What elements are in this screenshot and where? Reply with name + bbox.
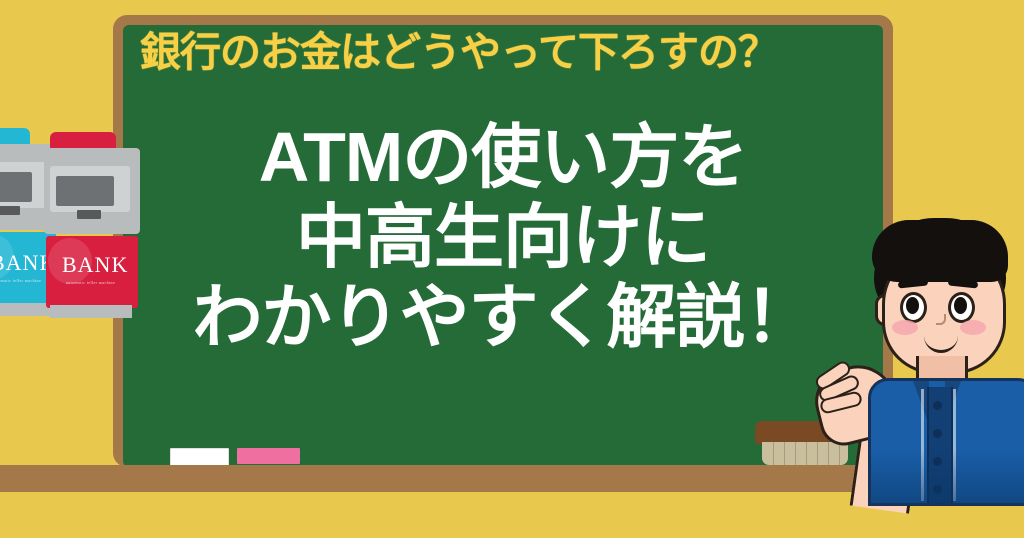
character-shirt-button [933, 429, 942, 438]
title-line-1: ATMの使い方を [113, 118, 893, 198]
character-shirt [868, 378, 1024, 506]
page-title: ATMの使い方を 中高生向けに わかりやすく解説！ [113, 118, 893, 357]
title-line-3: わかりやすく解説！ [113, 278, 893, 358]
atm-base [50, 305, 132, 318]
character-hair-front [872, 220, 1008, 282]
character-shirt-button [933, 401, 942, 410]
character-shirt-shading [871, 449, 1024, 503]
character-blush-left [892, 320, 918, 335]
atm-screen [0, 172, 32, 202]
character-pupil-left [906, 297, 919, 314]
atm-card-slot [0, 206, 20, 215]
character-blush-right [960, 320, 986, 335]
atm-brand-sublabel: automatic teller machine [0, 278, 41, 283]
atm-machine-red: BANK automatic teller machine [44, 132, 142, 316]
chalk-pink [237, 448, 300, 464]
atm-screen [56, 176, 114, 206]
atm-brand-label: BANK [62, 252, 128, 278]
student-boy-illustration [812, 218, 1024, 500]
atm-card-slot [77, 210, 101, 219]
poster-canvas: 銀行のお金はどうやって下ろすの？ ATMの使い方を 中高生向けに わかりやすく解… [0, 0, 1024, 538]
character-pupil-right [954, 297, 967, 314]
chalk-white [170, 448, 229, 466]
title-line-2: 中高生向けに [113, 198, 893, 278]
atm-brand-sublabel: automatic teller machine [66, 280, 115, 285]
subtitle-text: 銀行のお金はどうやって下ろすの？ [140, 30, 840, 75]
